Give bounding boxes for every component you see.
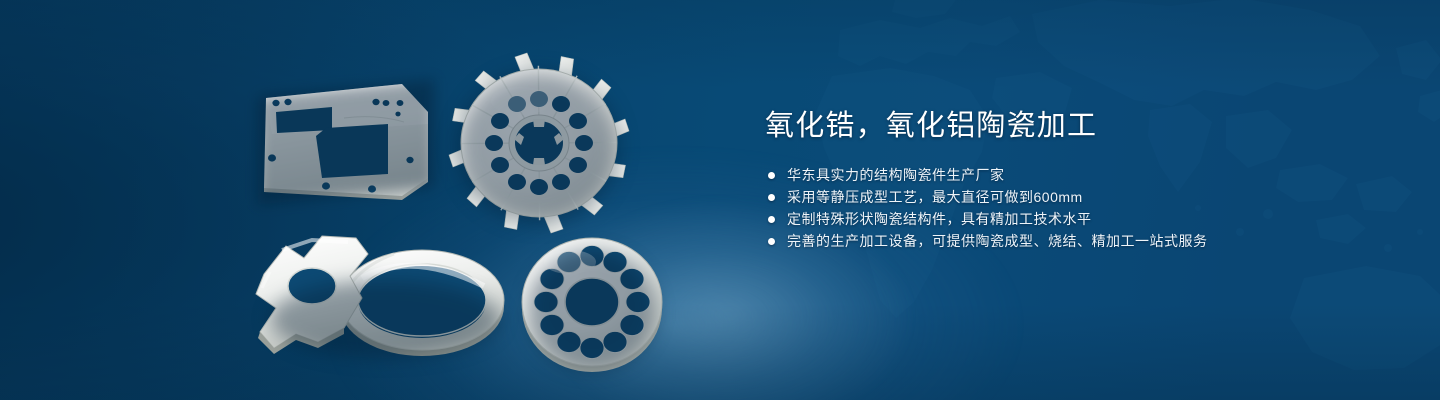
impeller-drop-shadow [458,72,618,222]
product-ceramic-impeller [446,48,632,234]
banner-copy: 氧化锆，氧化铝陶瓷加工 华东具实力的结构陶瓷件生产厂家 采用等静压成型工艺，最大… [765,104,1405,252]
product-machined-ceramic-plate [252,78,442,203]
product-perforated-ceramic-disc [518,232,666,372]
bullet-dot-icon [768,172,775,179]
bullet-dot-icon [768,216,775,223]
cross-ring-drop-shadow [270,280,500,358]
list-item: 定制特殊形状陶瓷结构件，具有精加工技术水平 [765,208,1405,230]
list-item: 华东具实力的结构陶瓷件生产厂家 [765,164,1405,186]
banner-bullet-list: 华东具实力的结构陶瓷件生产厂家 采用等静压成型工艺，最大直径可做到600mm 定… [765,164,1405,252]
disc-drop-shadow [528,250,656,370]
product-photo-group [0,0,720,400]
plate-drop-shadow [258,80,434,205]
bullet-text: 华东具实力的结构陶瓷件生产厂家 [787,164,1005,186]
banner-headline: 氧化锆，氧化铝陶瓷加工 [765,104,1405,148]
bullet-dot-icon [768,194,775,201]
bullet-text: 完善的生产加工设备，可提供陶瓷成型、烧结、精加工一站式服务 [787,230,1208,252]
list-item: 采用等静压成型工艺，最大直径可做到600mm [765,186,1405,208]
bullet-dot-icon [768,238,775,245]
product-cross-plate-and-ring [252,228,522,368]
ceramic-processing-banner: 氧化锆，氧化铝陶瓷加工 华东具实力的结构陶瓷件生产厂家 采用等静压成型工艺，最大… [0,0,1440,400]
bullet-text: 定制特殊形状陶瓷结构件，具有精加工技术水平 [787,208,1092,230]
list-item: 完善的生产加工设备，可提供陶瓷成型、烧结、精加工一站式服务 [765,230,1405,252]
bullet-text: 采用等静压成型工艺，最大直径可做到600mm [787,186,1083,208]
